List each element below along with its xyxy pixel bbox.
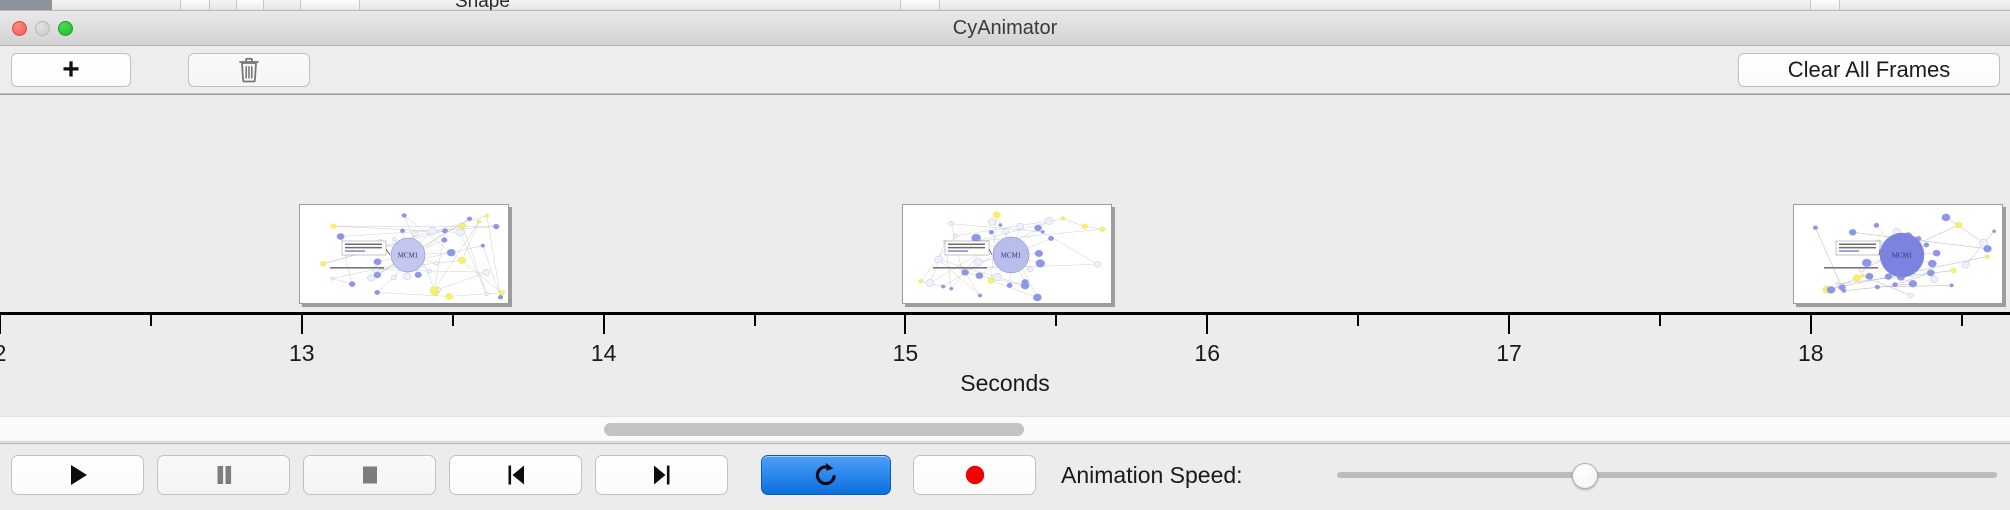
axis-tick-major: [0, 315, 1, 334]
plus-icon: +: [62, 55, 80, 85]
graph-node: [434, 261, 439, 265]
graph-node: [337, 233, 344, 239]
graph-node: [415, 272, 422, 278]
graph-node: [392, 237, 396, 241]
graph-node: [1036, 259, 1045, 267]
graph-node: [485, 214, 489, 218]
axis-tick-label: 18: [1798, 340, 1824, 367]
background-window-titlebar-fragment: [0, 0, 52, 11]
axis-tick-minor: [1055, 315, 1057, 326]
graph-node: [349, 281, 355, 286]
graph-node: [942, 285, 946, 289]
graph-node: [374, 259, 382, 266]
graph-node: [1928, 260, 1936, 267]
graph-node: [459, 223, 466, 229]
graph-node: [330, 224, 336, 229]
graph-node: [978, 294, 982, 297]
graph-node: [1875, 285, 1880, 289]
graph-node: [993, 212, 1000, 218]
graph-node: [1835, 282, 1839, 285]
axis-tick-label: 2: [0, 340, 6, 367]
graph-node: [1853, 275, 1861, 281]
slider-thumb[interactable]: [1572, 463, 1598, 489]
graph-node: [1027, 267, 1033, 272]
graph-node: [498, 295, 503, 299]
pause-button[interactable]: [157, 455, 290, 495]
graph-node: [391, 275, 396, 280]
network-graph: MCM1: [300, 205, 509, 304]
graph-node: [1892, 282, 1897, 286]
timeline-axis: 2131415161718: [0, 312, 2010, 372]
graph-node: [1927, 270, 1935, 277]
axis-tick-label: 17: [1496, 340, 1522, 367]
graph-node: [441, 238, 447, 243]
slider-track[interactable]: [1337, 472, 1997, 478]
graph-node: [330, 277, 334, 280]
toolbar: + Clear All Frames: [0, 46, 2010, 94]
graph-node: [954, 234, 958, 237]
background-window-fragment: [900, 0, 940, 11]
graph-node: [1022, 279, 1029, 285]
graph-node: [1992, 230, 1996, 233]
axis-tick-major: [904, 315, 906, 334]
hub-node-label: MCM1: [1001, 252, 1022, 260]
graph-node: [976, 272, 983, 278]
graph-node: [458, 257, 466, 264]
graph-node: [1955, 222, 1962, 228]
graph-node: [999, 223, 1003, 226]
graph-node: [1979, 239, 1987, 246]
loop-icon: [812, 461, 840, 489]
graph-node: [467, 217, 472, 221]
graph-node: [1930, 276, 1937, 282]
graph-node: [1941, 214, 1949, 221]
skip-to-start-icon: [503, 462, 529, 488]
axis-tick-label: 13: [289, 340, 315, 367]
graph-node: [403, 273, 411, 280]
graph-node: [1061, 217, 1066, 221]
timeline-panel[interactable]: MCM1MCM1MCM1: [0, 94, 2010, 312]
graph-node: [374, 272, 381, 278]
play-icon: [65, 462, 91, 488]
graph-node: [1838, 284, 1845, 290]
graph-node: [400, 229, 405, 233]
stop-icon: [357, 462, 383, 488]
graph-node: [320, 261, 326, 266]
graph-node: [1041, 230, 1045, 233]
graph-node: [950, 287, 954, 290]
graph-node: [1923, 243, 1928, 248]
graph-node: [429, 287, 438, 295]
background-window-strip: Shape: [0, 0, 2010, 11]
play-button[interactable]: [11, 455, 144, 495]
graph-node: [988, 219, 996, 226]
axis-tick-minor: [452, 315, 454, 326]
network-graph: MCM1: [903, 205, 1112, 304]
graph-node: [1035, 250, 1043, 257]
axis-tick-minor: [1961, 315, 1963, 326]
scrollbar-thumb[interactable]: [604, 423, 1024, 436]
graph-node: [1035, 225, 1042, 231]
graph-node: [1985, 255, 1990, 259]
skip-to-end-button[interactable]: [595, 455, 728, 495]
animation-speed-label: Animation Speed:: [1061, 455, 1243, 495]
graph-node: [483, 269, 490, 275]
graph-node: [926, 279, 934, 286]
trash-icon: [238, 57, 260, 83]
graph-node: [1813, 226, 1818, 230]
graph-node: [1827, 286, 1835, 293]
playback-control-bar: Animation Speed:: [0, 443, 2010, 510]
background-window-fragment: [180, 0, 210, 11]
graph-node: [919, 279, 924, 283]
background-window-shape-label: Shape: [455, 0, 510, 11]
hub-node-label: MCM1: [397, 252, 418, 260]
axis-tick-label: 15: [893, 340, 919, 367]
skip-to-start-button[interactable]: [449, 455, 582, 495]
graph-node: [1873, 223, 1878, 228]
background-window-fragment: [1810, 0, 1840, 11]
axis-tick-major: [1508, 315, 1510, 334]
graph-node: [1095, 261, 1102, 267]
axis-tick-minor: [754, 315, 756, 326]
axis-tick-minor: [150, 315, 152, 326]
graph-node: [989, 230, 994, 234]
graph-node: [1962, 262, 1970, 269]
graph-node: [442, 228, 447, 233]
background-window-fragment: [300, 0, 360, 11]
background-window-fragment: [236, 0, 264, 11]
axis-tick-minor: [1659, 315, 1661, 326]
stop-button[interactable]: [303, 455, 436, 495]
window-title: CyAnimator: [0, 11, 2010, 46]
record-button[interactable]: [913, 455, 1036, 495]
graph-node: [1082, 224, 1088, 229]
graph-node: [1860, 274, 1864, 278]
graph-node: [993, 273, 1002, 280]
graph-node: [1949, 284, 1953, 287]
clear-all-frames-button[interactable]: Clear All Frames: [1738, 53, 2000, 87]
axis-tick-major: [1810, 315, 1812, 334]
skip-to-end-icon: [649, 462, 675, 488]
graph-node: [1909, 280, 1917, 287]
graph-node: [428, 227, 437, 235]
graph-node: [1007, 283, 1013, 288]
pause-icon: [211, 462, 237, 488]
frame-thumbnail[interactable]: MCM1: [1793, 204, 2003, 304]
hub-node-label: MCM1: [1891, 252, 1912, 260]
network-graph: MCM1: [1794, 205, 2003, 304]
graph-node: [1865, 273, 1873, 280]
graph-node: [1950, 268, 1956, 273]
axis-tick-minor: [1357, 315, 1359, 326]
graph-node: [1885, 273, 1892, 279]
graph-node: [1049, 236, 1055, 241]
frame-thumbnail[interactable]: MCM1: [299, 204, 509, 304]
graph-node: [456, 229, 464, 236]
timeline-horizontal-scrollbar[interactable]: [0, 416, 2010, 442]
graph-node: [1045, 217, 1053, 224]
frame-thumbnail[interactable]: MCM1: [902, 204, 1112, 304]
graph-node: [445, 293, 452, 299]
graph-node: [481, 244, 485, 247]
graph-node: [1003, 229, 1009, 234]
loop-button[interactable]: [761, 455, 891, 495]
delete-frame-button[interactable]: [188, 53, 310, 87]
graph-node: [374, 290, 379, 295]
graph-node: [477, 220, 481, 223]
graph-node: [1907, 293, 1913, 298]
axis-tick-major: [1206, 315, 1208, 334]
graph-node: [1983, 245, 1991, 252]
graph-node: [427, 269, 432, 273]
graph-node: [974, 259, 982, 266]
record-icon: [962, 462, 988, 488]
axis-tick-label: 16: [1194, 340, 1220, 367]
graph-node: [1034, 294, 1042, 301]
graph-node: [402, 213, 407, 217]
window-titlebar: CyAnimator: [0, 11, 2010, 46]
animation-speed-slider[interactable]: [1337, 455, 1997, 495]
axis-title-seconds: Seconds: [0, 370, 2010, 397]
graph-node: [1849, 229, 1856, 235]
graph-node: [935, 256, 943, 263]
graph-node: [949, 221, 955, 226]
graph-node: [1862, 259, 1871, 267]
axis-tick-label: 14: [591, 340, 617, 367]
graph-node: [1100, 227, 1106, 232]
graph-node: [972, 234, 981, 242]
graph-node: [1933, 250, 1940, 256]
axis-tick-major: [603, 315, 605, 334]
graph-node: [484, 292, 488, 295]
graph-node: [493, 224, 499, 229]
graph-node: [447, 249, 455, 256]
graph-node: [411, 231, 418, 237]
axis-tick-major: [301, 315, 303, 334]
graph-node: [499, 290, 505, 295]
add-frame-button[interactable]: +: [11, 53, 131, 87]
graph-node: [1017, 223, 1024, 229]
